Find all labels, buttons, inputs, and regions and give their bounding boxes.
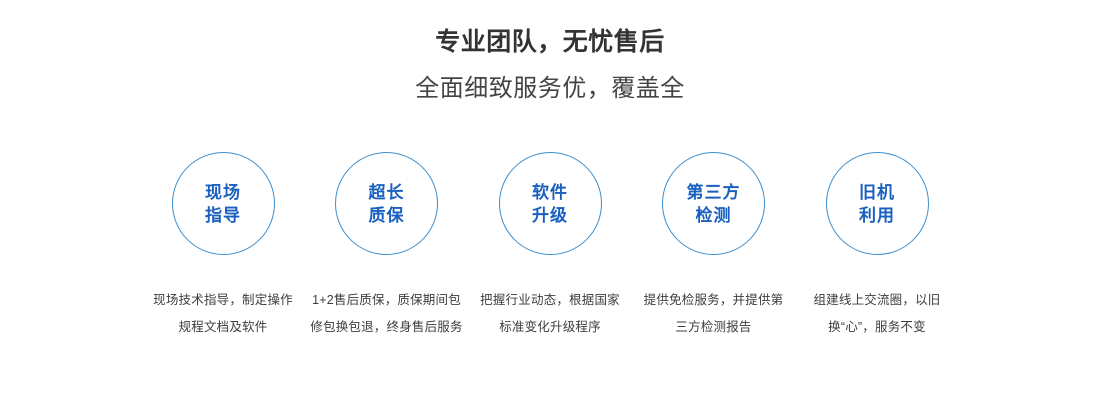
circle-label-line1: 现场 — [205, 181, 241, 204]
circle-label-line2: 利用 — [859, 204, 895, 227]
caption-line2: 规程文档及软件 — [145, 314, 301, 341]
caption-line1: 组建线上交流圈，以旧 — [799, 287, 955, 314]
feature-caption: 现场技术指导，制定操作 规程文档及软件 — [145, 287, 301, 341]
service-feature-section: 专业团队，无忧售后 全面细致服务优，覆盖全 现场 指导 现场技术指导，制定操作 … — [0, 0, 1100, 404]
feature-circle[interactable]: 旧机 利用 — [826, 152, 929, 255]
circle-label-line2: 升级 — [532, 204, 568, 227]
caption-line2: 换“心”，服务不变 — [799, 314, 955, 341]
circle-label-line1: 第三方 — [687, 181, 741, 204]
feature-caption: 提供免检服务，并提供第 三方检测报告 — [636, 287, 792, 341]
feature-item-extended-warranty: 超长 质保 1+2售后质保，质保期间包 修包换包退，终身售后服务 — [309, 152, 465, 341]
feature-caption: 把握行业动态，根据国家 标准变化升级程序 — [472, 287, 628, 341]
page-title: 专业团队，无忧售后 — [0, 26, 1100, 58]
caption-line2: 修包换包退，终身售后服务 — [309, 314, 465, 341]
feature-item-software-upgrade: 软件 升级 把握行业动态，根据国家 标准变化升级程序 — [472, 152, 628, 341]
caption-line2: 标准变化升级程序 — [472, 314, 628, 341]
feature-item-onsite-guidance: 现场 指导 现场技术指导，制定操作 规程文档及软件 — [145, 152, 301, 341]
feature-item-third-party-inspection: 第三方 检测 提供免检服务，并提供第 三方检测报告 — [636, 152, 792, 341]
caption-line1: 1+2售后质保，质保期间包 — [309, 287, 465, 314]
caption-line1: 现场技术指导，制定操作 — [145, 287, 301, 314]
circle-label-line2: 检测 — [696, 204, 732, 227]
circle-label-line1: 软件 — [532, 181, 568, 204]
feature-caption: 1+2售后质保，质保期间包 修包换包退，终身售后服务 — [309, 287, 465, 341]
heading-block: 专业团队，无忧售后 全面细致服务优，覆盖全 — [0, 26, 1100, 104]
feature-caption: 组建线上交流圈，以旧 换“心”，服务不变 — [799, 287, 955, 341]
caption-line1: 把握行业动态，根据国家 — [472, 287, 628, 314]
page-subtitle: 全面细致服务优，覆盖全 — [0, 74, 1100, 104]
feature-item-trade-in: 旧机 利用 组建线上交流圈，以旧 换“心”，服务不变 — [799, 152, 955, 341]
circle-label-line1: 超长 — [369, 181, 405, 204]
feature-circle[interactable]: 软件 升级 — [499, 152, 602, 255]
feature-list: 现场 指导 现场技术指导，制定操作 规程文档及软件 超长 质保 1+2售后质保，… — [145, 152, 955, 341]
feature-circle[interactable]: 现场 指导 — [172, 152, 275, 255]
caption-line2: 三方检测报告 — [636, 314, 792, 341]
circle-label-line1: 旧机 — [859, 181, 895, 204]
circle-label-line2: 质保 — [369, 204, 405, 227]
feature-circle[interactable]: 第三方 检测 — [662, 152, 765, 255]
feature-circle[interactable]: 超长 质保 — [335, 152, 438, 255]
circle-label-line2: 指导 — [205, 204, 241, 227]
caption-line1: 提供免检服务，并提供第 — [636, 287, 792, 314]
